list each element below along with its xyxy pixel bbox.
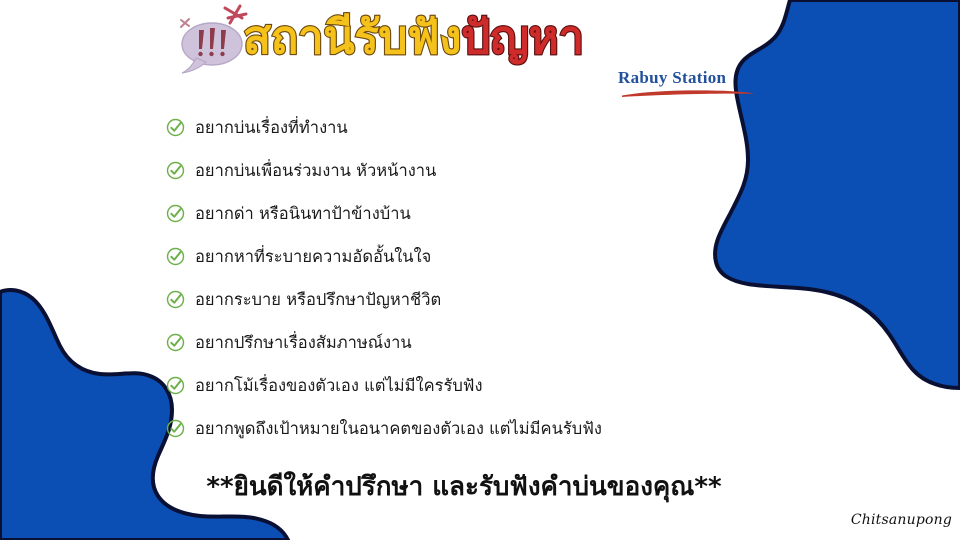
list-item-label: อยากปรึกษาเรื่องสัมภาษณ์งาน	[195, 332, 412, 354]
list-item: อยากปรึกษาเรื่องสัมภาษณ์งาน	[166, 321, 806, 364]
list-item-label: อยากพูดถึงเป้าหมายในอนาคตของตัวเอง แต่ไม…	[195, 418, 602, 440]
list-item: อยากบ่นเพื่อนร่วมงาน หัวหน้างาน	[166, 149, 806, 192]
title-part-gold: สถานีรับฟัง	[243, 10, 461, 64]
list-item-label: อยากโม้เรื่องของตัวเอง แต่ไม่มีใครรับฟัง	[195, 375, 483, 397]
poster-header: สถานีรับฟังปัญหา Rabuy Station	[168, 2, 788, 106]
list-item: อยากด่า หรือนินทาป้าข้างบ้าน	[166, 192, 806, 235]
check-circle-icon	[166, 161, 185, 180]
page-title: สถานีรับฟังปัญหา	[243, 6, 584, 68]
brand-subtitle: Rabuy Station	[618, 68, 778, 88]
check-circle-icon	[166, 204, 185, 223]
check-circle-icon	[166, 290, 185, 309]
list-item: อยากโม้เรื่องของตัวเอง แต่ไม่มีใครรับฟัง	[166, 364, 806, 407]
list-item-label: อยากด่า หรือนินทาป้าข้างบ้าน	[195, 203, 411, 225]
poster-canvas: สถานีรับฟังปัญหา Rabuy Station อยากบ่นเร…	[0, 0, 960, 540]
list-item: อยากหาที่ระบายความอัดอั้นในใจ	[166, 235, 806, 278]
check-circle-icon	[166, 247, 185, 266]
benefits-checklist: อยากบ่นเรื่องที่ทำงาน อยากบ่นเพื่อนร่วมง…	[166, 106, 806, 450]
check-circle-icon	[166, 333, 185, 352]
check-circle-icon	[166, 376, 185, 395]
list-item-label: อยากบ่นเพื่อนร่วมงาน หัวหน้างาน	[195, 160, 436, 182]
list-item-label: อยากบ่นเรื่องที่ทำงาน	[195, 117, 348, 139]
list-item: อยากระบาย หรือปรึกษาปัญหาชีวิต	[166, 278, 806, 321]
list-item-label: อยากหาที่ระบายความอัดอั้นในใจ	[195, 246, 431, 268]
list-item-label: อยากระบาย หรือปรึกษาปัญหาชีวิต	[195, 289, 441, 311]
list-item: อยากพูดถึงเป้าหมายในอนาคตของตัวเอง แต่ไม…	[166, 407, 806, 450]
check-circle-icon	[166, 419, 185, 438]
brand-subtitle-group: Rabuy Station	[618, 68, 778, 104]
footer-note: **ยินดีให้คำปรึกษา และรับฟังคำบ่นของคุณ*…	[0, 466, 928, 507]
brush-underline-icon	[620, 88, 756, 98]
list-item: อยากบ่นเรื่องที่ทำงาน	[166, 106, 806, 149]
speech-bubble-exclamation-icon	[168, 4, 254, 80]
author-signature: Chitsanupong	[851, 512, 952, 528]
check-circle-icon	[166, 118, 185, 137]
title-part-red: ปัญหา	[461, 10, 584, 64]
